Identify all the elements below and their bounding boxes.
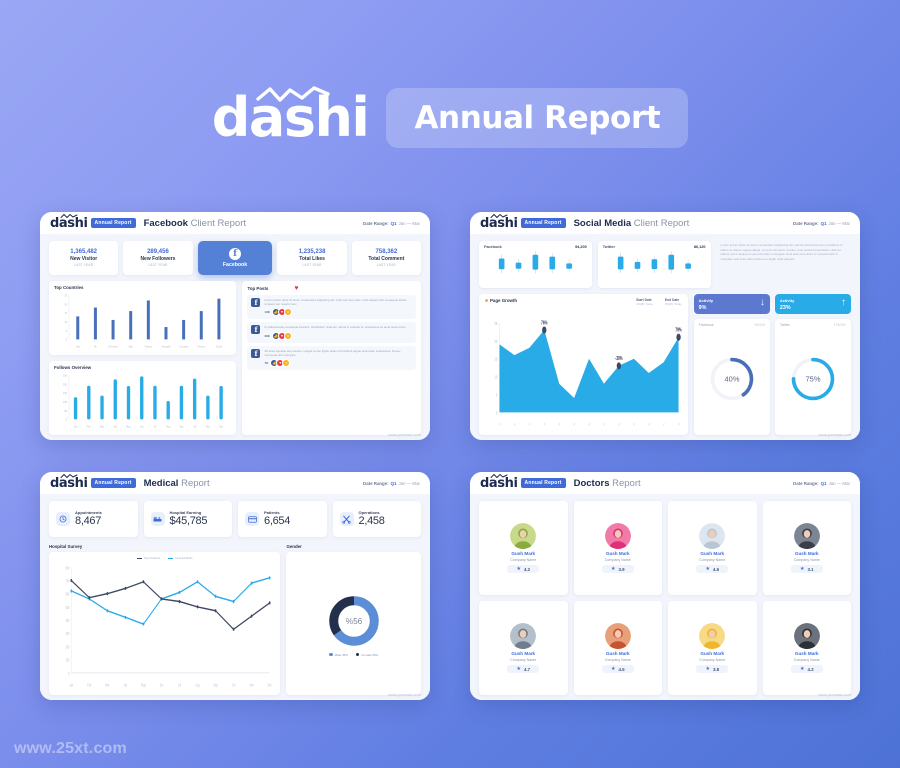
rating-value: 3.9 [618, 567, 624, 572]
hero-header: dashi Annual Report [0, 78, 900, 158]
svg-text:200: 200 [63, 382, 68, 386]
svg-text:↗: ↗ [603, 422, 605, 427]
facebook-candles [484, 249, 587, 279]
legend-item: Male 45% [329, 653, 348, 657]
star-icon: ★ [516, 567, 520, 572]
top-posts-title: Top Posts [247, 286, 268, 291]
facebook-donut-card[interactable]: Facebook 94/200 40% [694, 319, 770, 435]
kpi-label: Total Comment [368, 256, 404, 262]
facebook-card-label: Facebook [223, 262, 247, 268]
doctor-rating[interactable]: ★4.3 [791, 665, 823, 673]
svg-text:↗: ↗ [633, 422, 635, 427]
svg-text:Oct: Oct [193, 425, 197, 428]
doctor-name: Gush Mark [795, 651, 819, 656]
activity-card-down[interactable]: Activity 9% ↓ [694, 294, 770, 314]
haha-icon: ☺ [282, 359, 290, 367]
svg-text:Aug: Aug [195, 683, 199, 688]
gender-title: Gender [286, 544, 421, 549]
doctor-name: Gush Mark [511, 651, 535, 656]
facebook-donut: 40% [710, 357, 754, 401]
facebook-icon: f [251, 298, 260, 307]
activity-card-up[interactable]: Activity 23% ↑ [775, 294, 851, 314]
doctor-company: Company Name [605, 658, 631, 662]
kpi-sub: LAST YEAR [302, 263, 321, 267]
slide3-header: dashi Annual Report Medical Report Date … [40, 472, 430, 494]
star-icon: ★ [705, 667, 709, 672]
slide-doctors-report[interactable]: dashi Annual Report Doctors Report Date … [470, 472, 860, 700]
avatar [794, 623, 820, 649]
doctor-rating[interactable]: ★3.1 [791, 565, 823, 573]
doctor-card[interactable]: Gush MarkCompany Name★3.9 [574, 501, 663, 595]
page-growth-card[interactable]: Page Growth Start Date 30/281 Today End … [479, 294, 688, 435]
tools-icon [340, 512, 354, 526]
slide2-body: Facebook 94,200 Twitter 86,120 Lorem ips… [470, 234, 860, 440]
facebook-icon: f [251, 349, 260, 358]
slide1-mini-logo: dashi [50, 216, 88, 231]
kpi-label: New Followers [140, 256, 175, 262]
svg-text:25: 25 [494, 321, 497, 326]
kpi-sub: LAST YEAR [74, 263, 93, 267]
svg-text:40%: 40% [724, 374, 739, 383]
kpi-total-likes[interactable]: 1,235,238 Total Likes LAST YEAR [277, 241, 346, 275]
doctor-name: Gush Mark [700, 551, 724, 556]
svg-text:Feb: Feb [87, 425, 92, 428]
slide1-body: 1,365,482 New Visitor LAST YEAR 289,456 … [40, 234, 430, 440]
svg-text:Aug: Aug [166, 425, 171, 428]
svg-text:Germany: Germany [108, 345, 118, 348]
svg-text:↗: ↗ [543, 422, 545, 427]
svg-text:Jan: Jan [74, 425, 78, 428]
svg-text:15: 15 [494, 357, 497, 362]
kpi-value: 2,458 [359, 515, 385, 527]
doctors-grid: Gush MarkCompany Name★4.2Gush MarkCompan… [479, 501, 851, 695]
doctor-card[interactable]: Gush MarkCompany Name★4.7 [479, 601, 568, 695]
svg-text:↗: ↗ [573, 422, 575, 427]
twitter-donut: 75% [791, 357, 835, 401]
post-item[interactable]: f In pellentesque consequat interdus. Ve… [247, 322, 416, 342]
svg-text:100: 100 [63, 400, 68, 404]
post-text: In pellentesque consequat interdus. Vest… [264, 325, 412, 329]
doctor-card[interactable]: Gush MarkCompany Name★4.6 [668, 501, 757, 595]
avatar [510, 523, 536, 549]
doctor-card[interactable]: Gush MarkCompany Name★4.5 [574, 601, 663, 695]
squiggle-icon [60, 473, 78, 479]
svg-text:↗: ↗ [618, 422, 620, 427]
svg-text:↗: ↗ [588, 422, 590, 427]
avatar [605, 523, 631, 549]
hero-badge: Annual Report [386, 88, 688, 148]
star-icon: ★ [611, 667, 615, 672]
facebook-candle-card[interactable]: Facebook 94,200 [479, 241, 592, 288]
hospital-survey-line-chart: 0100200300400500600700800JanFebMarAprMay… [54, 560, 275, 691]
svg-text:Dec: Dec [268, 683, 272, 688]
doctor-card[interactable]: Gush MarkCompany Name★4.3 [763, 601, 852, 695]
rating-value: 4.5 [618, 667, 624, 672]
svg-text:Canada: Canada [180, 345, 189, 348]
svg-text:Mar: Mar [105, 683, 110, 688]
svg-text:20: 20 [494, 339, 497, 344]
avatar [794, 523, 820, 549]
avatar [605, 623, 631, 649]
slide2-header: dashi Annual Report Social Media Client … [470, 212, 860, 234]
kpi-sub: LAST YEAR [377, 263, 396, 267]
kpi-new-visitor[interactable]: 1,365,482 New Visitor LAST YEAR [49, 241, 118, 275]
post-text: Lorem ipsum dolor sit amet, consectetur … [264, 298, 412, 306]
rating-value: 4.2 [524, 567, 530, 572]
kpi-value: 6,654 [264, 515, 290, 527]
top-countries-chart-card[interactable]: Top Countries 0510152025UsaUkGermanyItal… [49, 281, 236, 355]
star-icon: ★ [800, 667, 804, 672]
rating-value: 4.6 [713, 567, 719, 572]
slide4-title: Doctors Report [574, 478, 641, 489]
kpi-label: Total Likes [299, 256, 325, 262]
svg-text:Apr: Apr [124, 683, 128, 688]
svg-text:5: 5 [66, 329, 68, 333]
svg-text:500: 500 [66, 605, 70, 610]
doctor-rating[interactable]: ★3.8 [696, 665, 728, 673]
activity-value: 23% [780, 305, 794, 311]
squiggle-icon [490, 473, 508, 479]
twitter-donut-card[interactable]: Twitter 178/200 75% [775, 319, 851, 435]
doctor-rating[interactable]: ★3.9 [602, 565, 634, 573]
svg-text:May: May [141, 683, 146, 688]
svg-text:↗: ↗ [513, 422, 515, 427]
gender-card[interactable]: %56 Male 45% Female 65% [286, 552, 421, 695]
slide3-annual-tag: Annual Report [91, 478, 136, 488]
doctor-company: Company Name [794, 658, 820, 662]
activity-value: 9% [699, 305, 713, 311]
slide4-body: Gush MarkCompany Name★4.2Gush MarkCompan… [470, 494, 860, 700]
svg-text:↗: ↗ [528, 422, 530, 427]
svg-text:Jun: Jun [160, 683, 164, 688]
follows-overview-bars: 050100150200250JanFebMarAprMayJunJulAugS… [54, 372, 231, 431]
svg-text:300: 300 [66, 631, 70, 636]
growth-dot-icon [485, 299, 488, 302]
svg-text:↗: ↗ [663, 422, 665, 427]
hospital-survey-title: Hospital Survey [49, 544, 280, 549]
kpi-new-followers[interactable]: 289,456 New Followers LAST YEAR [123, 241, 192, 275]
reaction-icons: 👍♥☺ [270, 359, 290, 367]
avatar [510, 623, 536, 649]
svg-text:Jun: Jun [140, 425, 144, 428]
svg-text:Uk: Uk [94, 345, 98, 348]
doctor-rating[interactable]: ★4.6 [696, 565, 728, 573]
kpi-value: 758,362 [376, 249, 398, 255]
slide1-kpi-row: 1,365,482 New Visitor LAST YEAR 289,456 … [49, 241, 421, 275]
slide4-header: dashi Annual Report Doctors Report Date … [470, 472, 860, 494]
kpi-label: New Visitor [70, 256, 97, 262]
svg-text:25: 25 [64, 293, 67, 297]
follows-overview-chart-card[interactable]: Follows Overview 050100150200250JanFebMa… [49, 361, 236, 435]
star-icon: ★ [611, 567, 615, 572]
kpi-value: $45,785 [170, 515, 208, 527]
slide2-annual-tag: Annual Report [521, 218, 566, 228]
svg-text:Jul: Jul [153, 425, 156, 428]
post-item[interactable]: f Lorem ipsum dolor sit amet, consectetu… [247, 295, 416, 319]
facebook-icon: f [229, 248, 241, 260]
twitter-candle-card[interactable]: Twitter 86,120 [598, 241, 711, 288]
slide2-site-watermark: www.premast.com [818, 432, 851, 437]
arrow-up-icon: ↑ [841, 298, 846, 308]
reaction-icons: 👍♥☺ [272, 332, 292, 340]
gender-donut: %56 [324, 591, 384, 651]
twitter-candles [603, 249, 706, 279]
slide-facebook-report[interactable]: dashi Annual Report Facebook Client Repo… [40, 212, 430, 440]
svg-text:800: 800 [66, 566, 70, 571]
svg-text:10: 10 [494, 375, 497, 380]
doctor-company: Company Name [510, 558, 536, 562]
slide3-body: Appointments 8,467 Hospital Earning $45,… [40, 494, 430, 700]
svg-text:20: 20 [64, 302, 67, 306]
svg-text:100: 100 [66, 658, 70, 663]
bed-icon [151, 512, 165, 526]
doctor-name: Gush Mark [700, 651, 724, 656]
svg-text:Usa: Usa [76, 345, 81, 348]
post-reaction-count: 13K [264, 310, 270, 314]
rating-value: 4.7 [524, 667, 530, 672]
svg-text:Mar: Mar [100, 425, 104, 428]
svg-text:75%: 75% [805, 374, 820, 383]
hero-badge-label: Annual Report [414, 100, 660, 136]
slide4-annual-tag: Annual Report [521, 478, 566, 488]
svg-text:15: 15 [64, 311, 67, 315]
doctor-company: Company Name [699, 558, 725, 562]
reaction-icons: 👍♥☺ [272, 308, 292, 316]
doctor-card[interactable]: Gush MarkCompany Name★3.1 [763, 501, 852, 595]
star-icon: ★ [800, 567, 804, 572]
svg-text:May: May [126, 425, 131, 428]
doctor-name: Gush Mark [606, 551, 630, 556]
chart-title: Top Countries [54, 285, 231, 290]
svg-text:200: 200 [66, 645, 70, 650]
doctor-card[interactable]: Gush MarkCompany Name★4.2 [479, 501, 568, 595]
start-date-block: Start Date 30/281 Today [636, 298, 653, 306]
chart-title: Follows Overview [54, 365, 231, 370]
slide3-title: Medical Report [144, 478, 210, 489]
hospital-survey-card[interactable]: New Patients Hospital Beds 0100200300400… [49, 552, 280, 695]
arrow-down-icon: ↓ [760, 298, 765, 308]
poster-stage: dashi Annual Report dashi Annual Report … [0, 0, 900, 768]
slide2-date-range: Date Range: Q1 Jan — Mar [793, 221, 850, 226]
slide1-site-watermark: www.premast.com [388, 432, 421, 437]
squiggle-icon [60, 213, 78, 219]
star-icon: ★ [516, 667, 520, 672]
slide3-site-watermark: www.premast.com [388, 692, 421, 697]
kpi-value: 1,365,482 [70, 249, 97, 255]
post-reaction-count: 29K [264, 334, 270, 338]
doctor-company: Company Name [510, 658, 536, 662]
svg-text:250: 250 [63, 373, 68, 377]
heart-icon: ♥ [294, 285, 298, 292]
kpi-value: 1,235,238 [299, 249, 326, 255]
slide1-annual-tag: Annual Report [91, 218, 136, 228]
gender-legend: Male 45% Female 65% [329, 653, 378, 657]
facebook-icon: f [251, 325, 260, 334]
activity-label: Activity [780, 298, 794, 303]
slide2-title: Social Media Client Report [574, 218, 690, 229]
svg-text:Jul: Jul [178, 683, 181, 688]
svg-text:Jan: Jan [69, 683, 73, 688]
svg-text:0: 0 [68, 671, 69, 676]
squiggle-icon [256, 85, 330, 105]
slide4-mini-logo: dashi [480, 476, 518, 491]
doctor-rating[interactable]: ★4.5 [602, 665, 634, 673]
svg-text:10: 10 [64, 320, 67, 324]
kpi-patients[interactable]: Patients 6,654 [238, 501, 327, 537]
star-icon: ★ [705, 567, 709, 572]
avatar [699, 523, 725, 549]
svg-text:Nov: Nov [206, 425, 211, 428]
svg-text:Italy: Italy [129, 345, 134, 348]
haha-icon: ☺ [284, 332, 292, 340]
svg-text:Sep: Sep [179, 425, 184, 428]
slide2-mini-logo: dashi [480, 216, 518, 231]
kpi-operations[interactable]: Operations 2,458 [333, 501, 422, 537]
svg-text:China: China [216, 345, 223, 348]
post-reaction-count: 7K [264, 361, 268, 365]
svg-text:↗: ↗ [558, 422, 560, 427]
post-item[interactable]: f Sit amet egestas dui posuere, integer … [247, 346, 416, 370]
card-icon [245, 512, 259, 526]
slide-social-media-report[interactable]: dashi Annual Report Social Media Client … [470, 212, 860, 440]
doctor-name: Gush Mark [795, 551, 819, 556]
svg-text:50: 50 [64, 409, 67, 413]
svg-text:%56: %56 [345, 617, 362, 626]
svg-text:76%: 76% [541, 319, 548, 325]
svg-text:Nov: Nov [250, 683, 254, 688]
svg-text:Apr: Apr [113, 425, 117, 428]
slide1-title: Facebook Client Report [144, 218, 246, 229]
slide2-description: Lorem ipsum dolor sit amet, consectetur … [717, 241, 851, 288]
squiggle-icon [490, 213, 508, 219]
svg-text:0: 0 [496, 411, 498, 416]
svg-text:Feb: Feb [87, 683, 91, 688]
end-date-block: End Date 30/281 Today [665, 298, 682, 306]
kpi-appointments[interactable]: Appointments 8,467 [49, 501, 138, 537]
svg-text:↗: ↗ [677, 422, 679, 427]
svg-text:Dec: Dec [219, 425, 224, 428]
slide4-site-watermark: www.premast.com [818, 692, 851, 697]
svg-text:Greece: Greece [197, 345, 205, 348]
page-growth-area-chart: 051015202576%-30%79%↗↗↗↗↗↗↗↗↗↗↗↗↗ [485, 306, 682, 431]
svg-text:600: 600 [66, 592, 70, 597]
kpi-hospital-earning[interactable]: Hospital Earning $45,785 [144, 501, 233, 537]
svg-text:France: France [145, 345, 153, 348]
top-posts-card[interactable]: Top Posts ♥ f Lorem ipsum dolor sit amet… [242, 281, 421, 435]
slide3-mini-logo: dashi [50, 476, 88, 491]
calendar-icon [56, 512, 70, 526]
svg-text:↗: ↗ [648, 422, 650, 427]
svg-text:Australia: Australia [161, 345, 171, 348]
svg-text:-30%: -30% [615, 355, 623, 361]
brand-logo: dashi [212, 91, 369, 145]
doctor-card[interactable]: Gush MarkCompany Name★3.8 [668, 601, 757, 695]
legend-item: Female 65% [356, 653, 378, 657]
rating-value: 3.8 [713, 667, 719, 672]
slide1-date-range: Date Range: Q1 Jan — Mar [363, 221, 420, 226]
page-watermark: www.25xt.com [14, 740, 127, 758]
kpi-sub: LAST YEAR [148, 263, 167, 267]
slide3-date-range: Date Range: Q1 Jan — Mar [363, 481, 420, 486]
doctor-name: Gush Mark [606, 651, 630, 656]
kpi-value: 8,467 [75, 515, 102, 527]
kpi-total-comment[interactable]: 758,362 Total Comment LAST YEAR [352, 241, 421, 275]
svg-text:79%: 79% [675, 327, 681, 333]
svg-text:0: 0 [66, 338, 68, 342]
svg-text:700: 700 [66, 579, 70, 584]
rating-value: 3.1 [807, 567, 813, 572]
kpi-value: 289,456 [147, 249, 169, 255]
doctor-company: Company Name [794, 558, 820, 562]
doctor-rating[interactable]: ★4.2 [507, 565, 539, 573]
doctor-rating[interactable]: ★4.7 [507, 665, 539, 673]
haha-icon: ☺ [284, 308, 292, 316]
svg-text:↗: ↗ [498, 422, 500, 427]
doctor-company: Company Name [699, 658, 725, 662]
svg-text:0: 0 [66, 418, 68, 422]
slide4-date-range: Date Range: Q1 Jan — Mar [793, 481, 850, 486]
post-text: Sit amet egestas dui posuere, integer eu… [264, 349, 412, 357]
svg-text:400: 400 [66, 618, 70, 623]
svg-text:Oct: Oct [232, 683, 236, 688]
activity-label: Activity [699, 298, 713, 303]
avatar [699, 623, 725, 649]
svg-text:Sep: Sep [214, 683, 218, 688]
svg-text:5: 5 [496, 393, 498, 398]
doctor-name: Gush Mark [511, 551, 535, 556]
slide-medical-report[interactable]: dashi Annual Report Medical Report Date … [40, 472, 430, 700]
rating-value: 4.3 [807, 667, 813, 672]
top-countries-bars: 0510152025UsaUkGermanyItalyFranceAustral… [54, 292, 231, 351]
page-growth-title: Page Growth [490, 298, 517, 303]
doctor-company: Company Name [605, 558, 631, 562]
facebook-selector-card[interactable]: f Facebook [198, 241, 273, 275]
slide1-header: dashi Annual Report Facebook Client Repo… [40, 212, 430, 234]
svg-text:150: 150 [63, 391, 68, 395]
